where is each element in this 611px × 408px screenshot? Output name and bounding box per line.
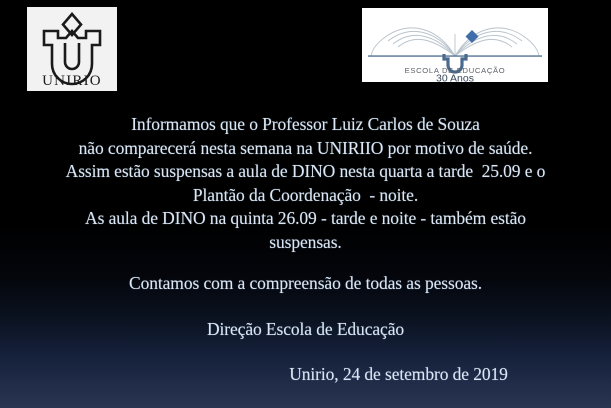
announcement-signature: Direção Escola de Educação bbox=[0, 318, 611, 342]
message-line: Informamos que o Professor Luiz Carlos d… bbox=[0, 113, 611, 137]
announcement-body: Informamos que o Professor Luiz Carlos d… bbox=[0, 113, 611, 254]
message-line: Plantão da Coordenação - noite. bbox=[0, 184, 611, 208]
announcement-datestamp: Unirio, 24 de setembro de 2019 bbox=[0, 363, 611, 387]
escola-logo-line2: 30 Anos bbox=[436, 73, 474, 83]
logo-rule bbox=[368, 55, 542, 56]
announcement-closing: Contamos com a compreensão de todas as p… bbox=[0, 272, 611, 296]
datestamp-line: Unirio, 24 de setembro de 2019 bbox=[186, 363, 611, 387]
open-book-icon bbox=[371, 28, 539, 56]
diamond-accent-icon bbox=[466, 30, 479, 43]
unirio-logo: UNIRIO bbox=[27, 7, 117, 91]
message-line: Assim estão suspensas a aula de DINO nes… bbox=[0, 160, 611, 184]
closing-line: Contamos com a compreensão de todas as p… bbox=[0, 272, 611, 296]
announcement-slide: UNIRIO bbox=[0, 0, 611, 408]
unirio-wordmark: UNIRIO bbox=[42, 73, 102, 89]
escola-de-educacao-logo: ESCOLA DE EDUCAÇÃO 30 Anos bbox=[362, 8, 548, 82]
message-line: não comparecerá nesta semana na UNIRIIO … bbox=[0, 137, 611, 161]
message-line: As aula de DINO na quinta 26.09 - tarde … bbox=[0, 207, 611, 231]
message-line: suspensas. bbox=[0, 231, 611, 255]
logo-band: UNIRIO bbox=[0, 0, 611, 100]
signature-line: Direção Escola de Educação bbox=[0, 318, 611, 342]
